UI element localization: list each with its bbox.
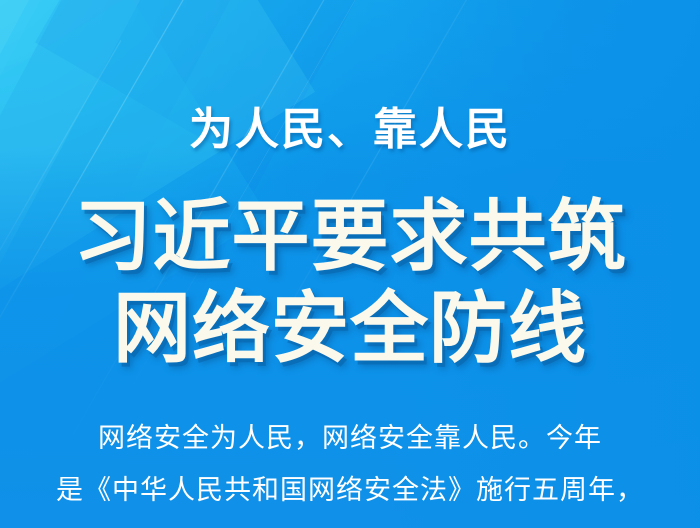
headline-line-1: 习近平要求共筑 <box>0 190 700 282</box>
body-line-1: 网络安全为人民，网络安全靠人民。今年 <box>30 412 670 464</box>
headline-line-2: 网络安全防线 <box>0 282 700 374</box>
body-line-2: 是《中华人民共和国网络安全法》施行五周年， <box>30 464 670 516</box>
poster-headline: 习近平要求共筑 网络安全防线 <box>0 190 700 374</box>
poster-content: 为人民、靠人民 习近平要求共筑 网络安全防线 网络安全为人民，网络安全靠人民。今… <box>0 0 700 528</box>
poster-kicker: 为人民、靠人民 <box>0 108 700 152</box>
poster-graphic: 为人民、靠人民 习近平要求共筑 网络安全防线 网络安全为人民，网络安全靠人民。今… <box>0 0 700 528</box>
poster-body: 网络安全为人民，网络安全靠人民。今年 是《中华人民共和国网络安全法》施行五周年， <box>30 412 670 516</box>
